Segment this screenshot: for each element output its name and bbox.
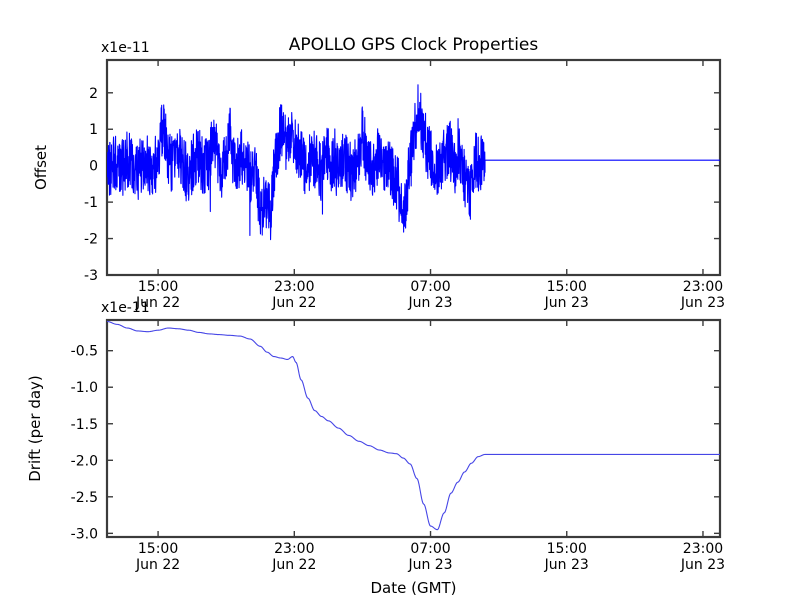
x-tick-label-date: Jun 23 (407, 295, 452, 311)
chart-title: APOLLO GPS Clock Properties (289, 35, 539, 55)
x-tick-label-time: 07:00 (410, 279, 450, 295)
series-line-offset (107, 85, 720, 240)
x-tick-label-time: 15:00 (138, 279, 178, 295)
x-tick-label-time: 23:00 (274, 541, 314, 557)
plot-panel-top: 15:00Jun 2223:00Jun 2207:00Jun 2315:00Ju… (32, 35, 725, 311)
x-tick-label-time: 07:00 (410, 541, 450, 557)
x-tick-label-time: 15:00 (138, 541, 178, 557)
y-tick-label: -1.0 (71, 380, 98, 396)
y-tick-label: 0 (89, 159, 98, 175)
y-tick-label: 2 (89, 86, 98, 102)
y-tick-label: -1 (84, 195, 98, 211)
series-line-drift (107, 321, 720, 529)
x-axis-label: Date (GMT) (370, 579, 456, 597)
x-tick-label-date: Jun 22 (271, 557, 316, 573)
x-tick-label-date: Jun 23 (680, 557, 725, 573)
y-tick-label: -0.5 (71, 344, 98, 360)
y-tick-label: -2.0 (71, 453, 98, 469)
y-tick-label: -3.0 (71, 526, 98, 542)
plot-panel-bottom: 15:00Jun 2223:00Jun 2207:00Jun 2315:00Ju… (26, 300, 725, 597)
x-tick-label-date: Jun 23 (544, 295, 589, 311)
x-tick-label-time: 23:00 (683, 541, 723, 557)
x-tick-label-time: 15:00 (547, 279, 587, 295)
x-tick-label-time: 15:00 (547, 541, 587, 557)
x-tick-label-date: Jun 22 (271, 295, 316, 311)
axes-frame-bottom (107, 320, 720, 537)
x-tick-label-time: 23:00 (274, 279, 314, 295)
y-axis-exponent-label-bottom: x1e-11 (101, 300, 150, 316)
matplotlib-figure: 15:00Jun 2223:00Jun 2207:00Jun 2315:00Ju… (0, 0, 800, 600)
x-tick-label-date: Jun 23 (680, 295, 725, 311)
x-tick-label-date: Jun 23 (407, 557, 452, 573)
y-tick-label: -3 (84, 268, 98, 284)
y-axis-exponent-label-top: x1e-11 (101, 40, 150, 56)
y-tick-label: 1 (89, 122, 98, 138)
figure-container: 15:00Jun 2223:00Jun 2207:00Jun 2315:00Ju… (0, 0, 800, 600)
x-tick-label-date: Jun 22 (135, 557, 180, 573)
y-tick-label: -2.5 (71, 490, 98, 506)
y-axis-label-bottom: Drift (per day) (26, 375, 44, 482)
y-tick-label: -1.5 (71, 417, 98, 433)
x-tick-label-date: Jun 23 (544, 557, 589, 573)
y-tick-label: -2 (84, 232, 98, 248)
x-tick-label-time: 23:00 (683, 279, 723, 295)
y-axis-label-top: Offset (32, 145, 50, 190)
